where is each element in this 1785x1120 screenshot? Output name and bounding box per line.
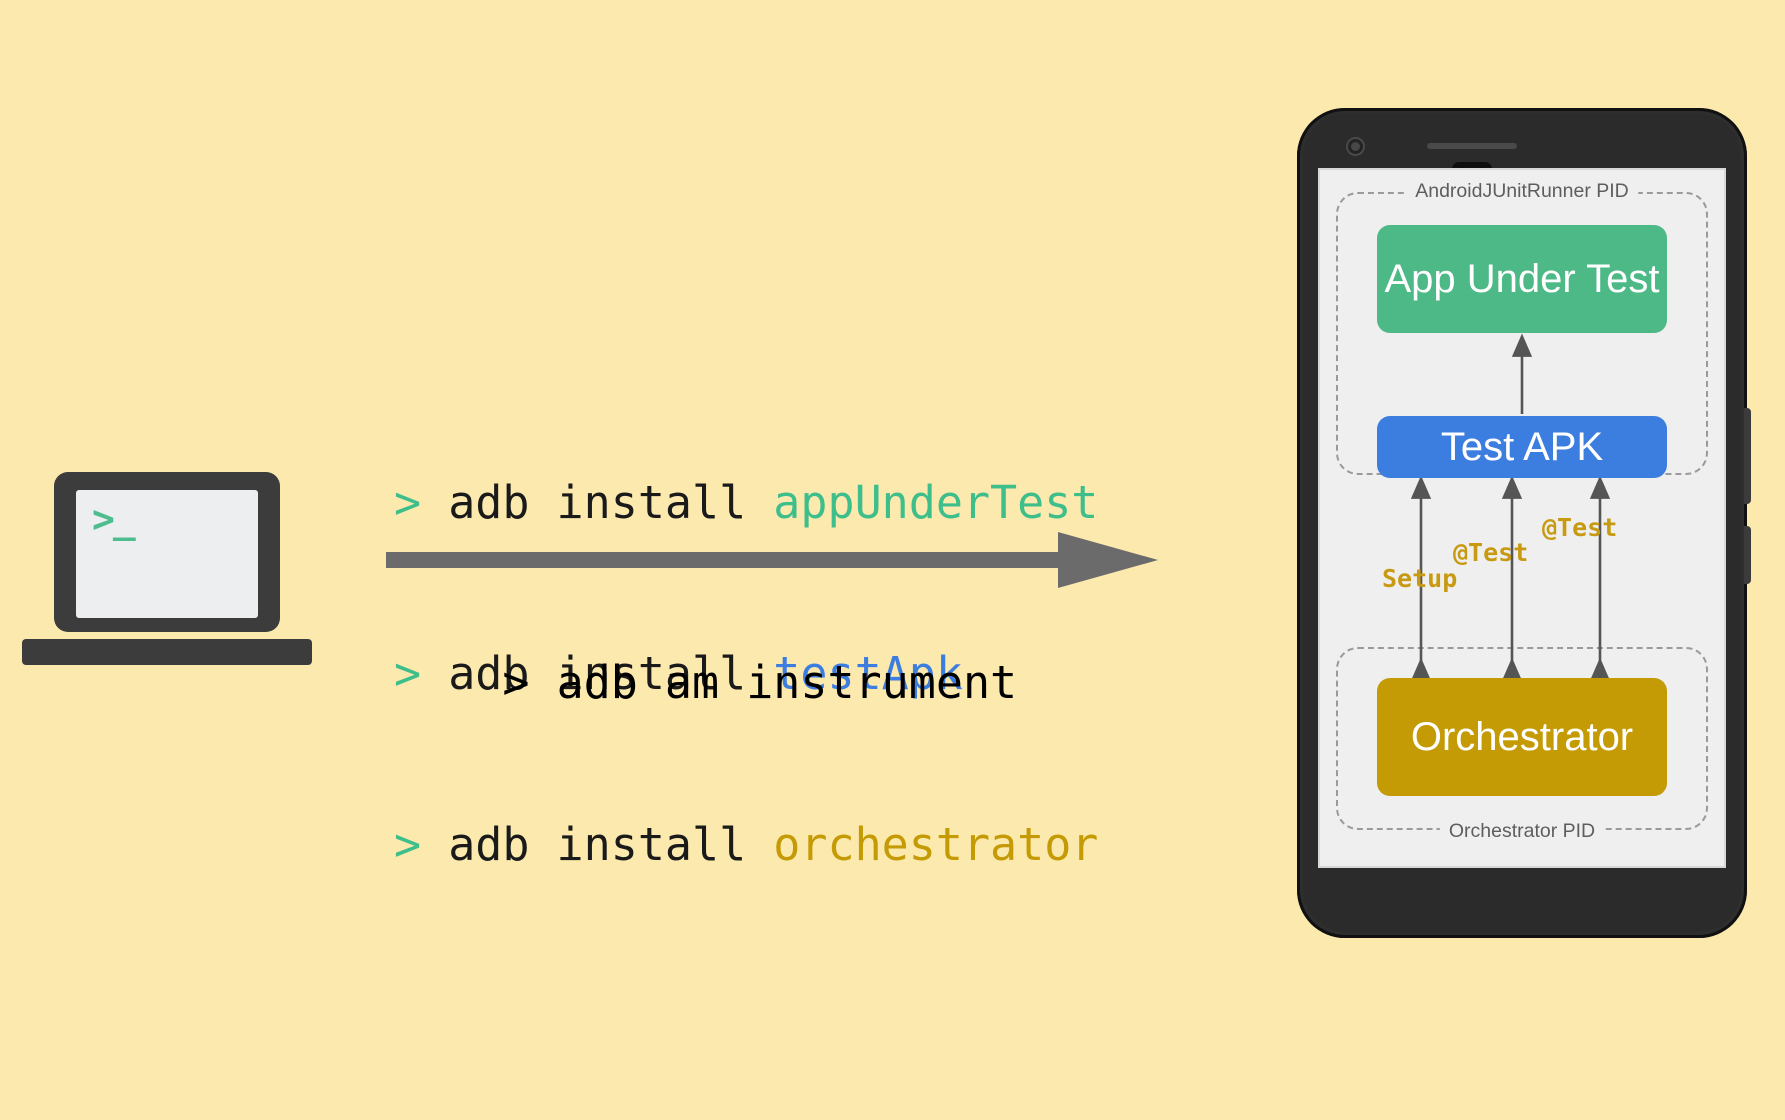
flow-arrow-right-icon (386, 520, 1166, 610)
arrow-label-setup: Setup (1382, 564, 1457, 593)
laptop-screen: >_ (76, 490, 258, 618)
command-text: adb am instrument (557, 656, 1018, 709)
laptop-lid: >_ (54, 472, 280, 632)
box-orchestrator[interactable]: Orchestrator (1377, 678, 1667, 796)
terminal-prompt-icon: >_ (92, 504, 134, 534)
android-phone: AndroidJUnitRunner PID Orchestrator PID (1297, 108, 1747, 938)
arrow-label-test-1: @Test (1453, 538, 1528, 567)
arrow-label-test-2: @Test (1542, 513, 1617, 542)
earpiece-speaker-icon (1427, 143, 1517, 149)
command-argument: orchestrator (773, 818, 1098, 871)
box-app-under-test[interactable]: App Under Test (1377, 225, 1667, 333)
box-label: App Under Test (1385, 258, 1660, 300)
phone-volume-button[interactable] (1744, 526, 1751, 584)
box-label: Orchestrator (1411, 716, 1633, 758)
front-camera-icon (1346, 137, 1365, 156)
terminal-run-command: > adb am instrument (394, 597, 1017, 768)
laptop-base (22, 639, 312, 665)
diagram-canvas: >_ > adb install appUnderTest > adb inst… (0, 0, 1785, 1120)
region-label-runner: AndroidJUnitRunner PID (1406, 180, 1638, 203)
region-label-orchestrator: Orchestrator PID (1440, 820, 1604, 843)
phone-power-button[interactable] (1744, 408, 1751, 504)
command-text: adb install (448, 818, 773, 871)
box-test-apk[interactable]: Test APK (1377, 416, 1667, 478)
prompt-chevron-icon: > (394, 818, 421, 871)
developer-machine-illustration: >_ (22, 472, 312, 687)
phone-screen: AndroidJUnitRunner PID Orchestrator PID (1320, 170, 1724, 866)
prompt-chevron-icon: > (502, 656, 529, 709)
terminal-line: > adb install orchestrator (394, 816, 1098, 873)
box-label: Test APK (1441, 426, 1603, 468)
